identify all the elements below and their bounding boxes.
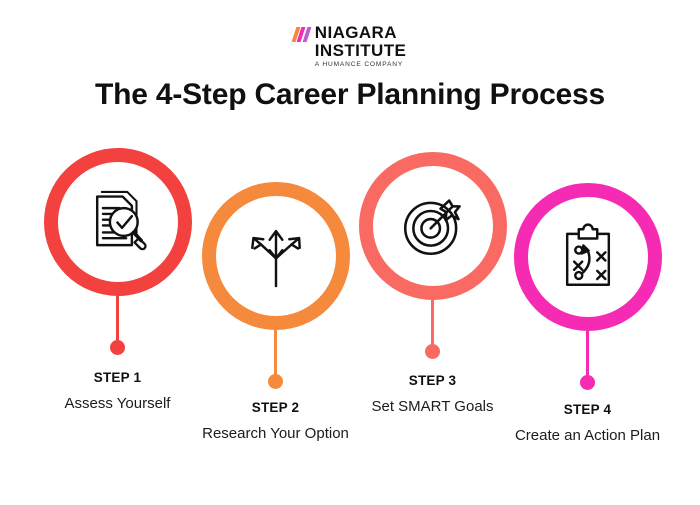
step-2-labels: STEP 2Research Your Option [188, 400, 363, 443]
step-3-ring[interactable] [359, 152, 507, 300]
step-4-connector-dot [580, 375, 595, 390]
step-2-connector-line [274, 330, 277, 375]
step-2-ring-holder [188, 182, 363, 330]
step-1-connector-dot [110, 340, 125, 355]
step-2-connector [188, 330, 363, 389]
step-1-description: Assess Yourself [30, 394, 205, 413]
step-1-name: STEP 1 [30, 370, 205, 385]
step-4-ring-holder [500, 183, 675, 331]
steps-container: STEP 1Assess Yourself STEP 2Research You… [0, 0, 700, 505]
step-4-ring[interactable] [514, 183, 662, 331]
step-1-ring-holder [30, 148, 205, 296]
step-1-connector-line [116, 296, 119, 341]
step-3-labels: STEP 3Set SMART Goals [345, 373, 520, 416]
step-4-connector-line [586, 331, 589, 376]
three-way-arrows-icon [239, 219, 313, 293]
step-1-labels: STEP 1Assess Yourself [30, 370, 205, 413]
document-magnifier-check-icon [81, 185, 155, 259]
step-1-ring[interactable] [44, 148, 192, 296]
step-2-description: Research Your Option [188, 424, 363, 443]
target-arrow-icon [396, 189, 470, 263]
step-2-name: STEP 2 [188, 400, 363, 415]
step-3-name: STEP 3 [345, 373, 520, 388]
step-2-ring[interactable] [202, 182, 350, 330]
step-3-connector-dot [425, 344, 440, 359]
step-2-connector-dot [268, 374, 283, 389]
step-4-name: STEP 4 [500, 402, 675, 417]
step-4-description: Create an Action Plan [500, 426, 675, 445]
clipboard-strategy-icon [551, 220, 625, 294]
step-3-ring-holder [345, 152, 520, 300]
step-4-connector [500, 331, 675, 390]
step-3-connector-line [431, 300, 434, 345]
step-4-labels: STEP 4Create an Action Plan [500, 402, 675, 445]
step-3-description: Set SMART Goals [345, 397, 520, 416]
step-3-connector [345, 300, 520, 359]
step-1-connector [30, 296, 205, 355]
